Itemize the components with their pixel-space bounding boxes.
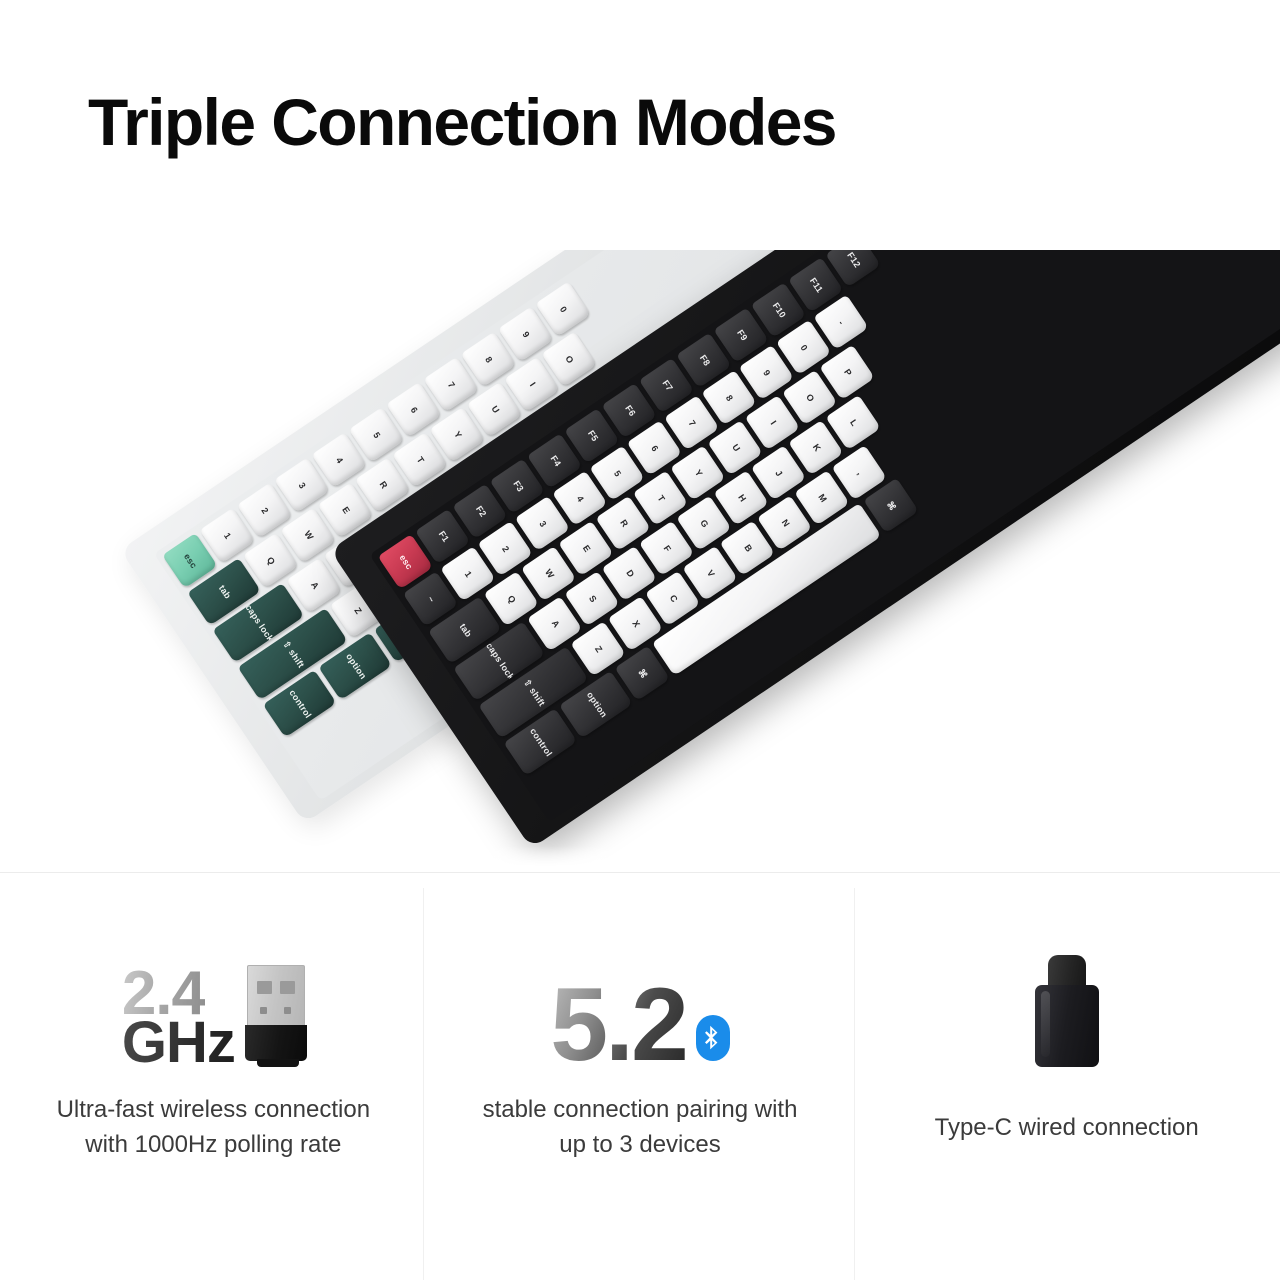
ghz-text-lockup: 2.4 GHz — [122, 969, 235, 1067]
feature-panels: 2.4 GHz Ultra-fast wireless connection w… — [0, 873, 1280, 1280]
bluetooth-lockup: 5.2 — [550, 984, 730, 1067]
feature-caption-bluetooth: stable connection pairing with up to 3 d… — [475, 1093, 805, 1163]
dongle-foot — [257, 1059, 299, 1067]
type-c-highlight — [1041, 991, 1050, 1057]
hero-product-image: esc 1 2 3 4 5 6 7 8 9 0 tab Q — [0, 250, 1280, 872]
usb-dongle-icon — [247, 965, 305, 1067]
wireless-badge: 2.4 GHz — [122, 935, 305, 1067]
dongle-pin-right — [284, 1007, 291, 1014]
bluetooth-icon — [696, 1015, 730, 1061]
bluetooth-version-value: 5.2 — [550, 984, 686, 1067]
page-title: Triple Connection Modes — [88, 88, 836, 157]
product-feature-page: Triple Connection Modes esc 1 2 3 4 5 6 … — [0, 0, 1280, 1280]
keyboard-stage: esc 1 2 3 4 5 6 7 8 9 0 tab Q — [0, 250, 1280, 872]
usb-type-c-icon — [1035, 955, 1099, 1067]
dongle-metal-shell — [247, 965, 305, 1027]
bluetooth-badge: 5.2 — [550, 935, 730, 1067]
dongle-slot-right — [280, 981, 295, 994]
dongle-slot-left — [257, 981, 272, 994]
type-c-tip — [1048, 955, 1086, 989]
feature-caption-type-c: Type-C wired connection — [935, 1111, 1199, 1146]
dongle-body — [245, 1025, 307, 1061]
feature-caption-wireless: Ultra-fast wireless connection with 1000… — [48, 1093, 378, 1163]
dongle-pin-left — [260, 1007, 267, 1014]
feature-panel-bluetooth-52: 5.2 stable connection pairing with up to… — [427, 873, 854, 1280]
ghz-unit: GHz — [122, 1019, 235, 1067]
feature-panel-wireless-24ghz: 2.4 GHz Ultra-fast wireless connection w… — [0, 873, 427, 1280]
feature-panel-type-c: Type-C wired connection — [853, 873, 1280, 1280]
type-c-badge — [1035, 935, 1099, 1067]
